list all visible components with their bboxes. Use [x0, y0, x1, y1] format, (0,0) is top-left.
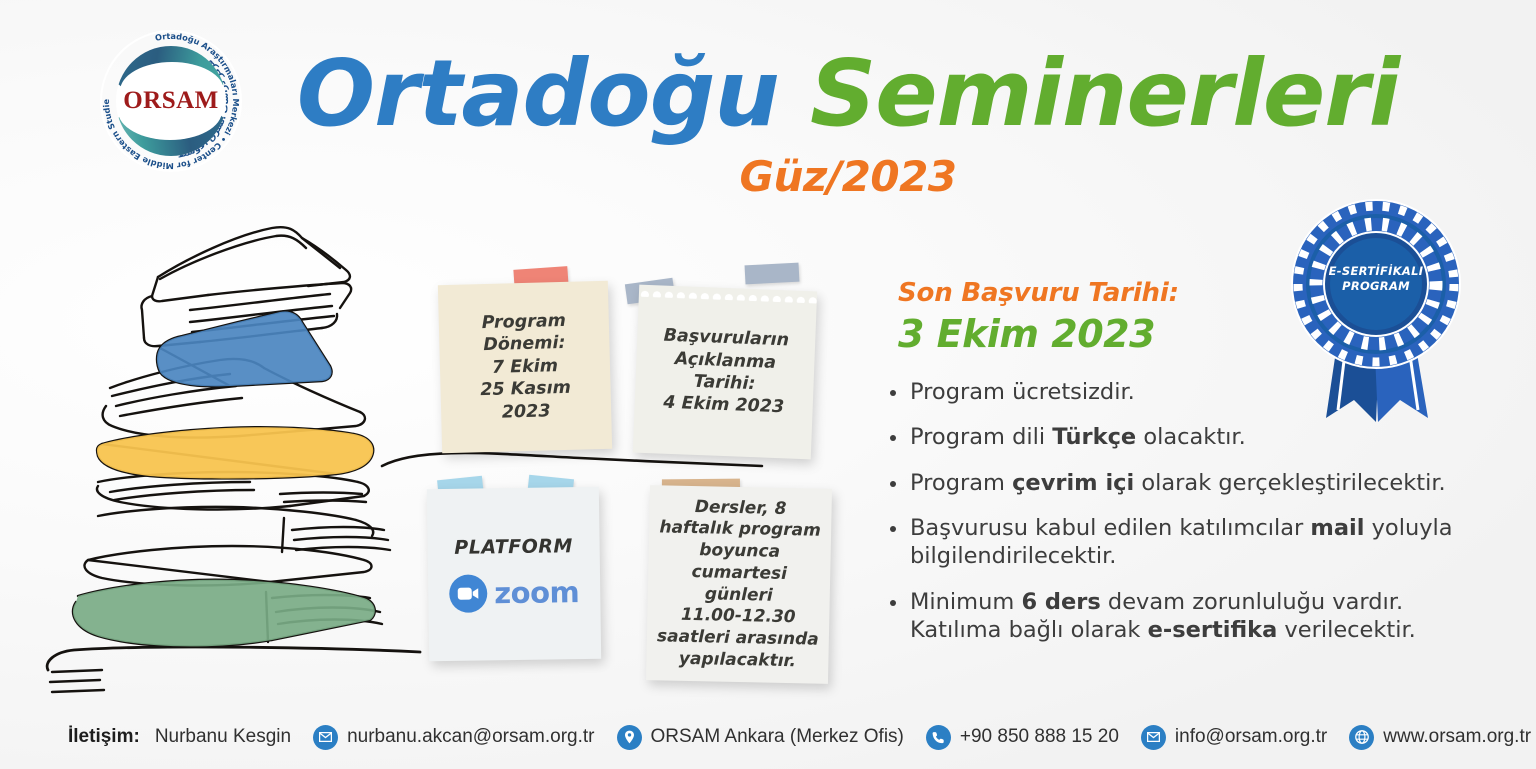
logo-wave-emblem: ORSAM [116, 46, 226, 156]
deadline-block: Son Başvuru Tarihi: 3 Ekim 2023 [898, 278, 1179, 356]
bullet-dot-icon [890, 390, 896, 396]
rosette-icon [1288, 196, 1464, 426]
footer-contact-text: www.orsam.org.tr [1383, 726, 1531, 748]
location-pin-icon [617, 725, 642, 750]
bullet-text: Program dili Türkçe olacaktır. [910, 423, 1246, 451]
contact-name: Nurbanu Kesgin [155, 726, 291, 748]
footer-contact-bar: İletişim: Nurbanu Kesgin nurbanu.akcan@o… [0, 705, 1536, 769]
bullet-text: Program ücretsizdir. [910, 378, 1135, 406]
footer-contact-item[interactable]: ORSAM Ankara (Merkez Ofis) [617, 725, 904, 750]
logo-wordmark: ORSAM [116, 87, 226, 115]
note-schedule-text: Dersler, 8 haftalık program boyunca cuma… [646, 496, 832, 674]
footer-contact-item[interactable]: nurbanu.akcan@orsam.org.tr [313, 725, 594, 750]
badge-text: E-SERTİFİKALI PROGRAM [1288, 264, 1464, 294]
zoom-wordmark: zoom [494, 575, 579, 610]
platform-label: PLATFORM [454, 535, 573, 559]
footer-contact-item[interactable]: www.orsam.org.tr [1349, 725, 1531, 750]
globe-icon [1349, 725, 1374, 750]
bullet-item: Program dili Türkçe olacaktır. [890, 423, 1490, 451]
zoom-camera-icon [449, 574, 488, 613]
note-program-period-text: Program Dönemi: 7 Ekim 25 Kasım 2023 [468, 310, 581, 425]
note-perforation-edge [639, 289, 817, 304]
orsam-logo: Ortadoğu Araştırmaları Merkezi • Center … [98, 28, 244, 174]
phone-icon [926, 725, 951, 750]
bullet-dot-icon [890, 526, 896, 532]
page-subtitle: Güz/2023 [268, 152, 1428, 201]
bullet-dot-icon [890, 481, 896, 487]
deadline-date: 3 Ekim 2023 [898, 312, 1179, 356]
zoom-logo: zoom [449, 573, 579, 613]
note-program-period: Program Dönemi: 7 Ekim 25 Kasım 2023 [438, 281, 612, 453]
title-part-2: Seminerleri [810, 40, 1399, 147]
title-block: Ortadoğu Seminerleri Güz/2023 [268, 48, 1428, 201]
bullet-item: Başvurusu kabul edilen katılımcılar mail… [890, 514, 1490, 571]
note-platform: PLATFORM zoom [427, 487, 601, 661]
deadline-label: Son Başvuru Tarihi: [898, 278, 1179, 308]
bullet-item: Minimum 6 ders devam zorunluluğu vardır.… [890, 588, 1490, 645]
badge-line-2: PROGRAM [1288, 279, 1464, 294]
footer-contact-item[interactable]: info@orsam.org.tr [1141, 725, 1327, 750]
badge-line-1: E-SERTİFİKALI [1288, 264, 1464, 279]
bullet-text: Minimum 6 ders devam zorunluluğu vardır.… [910, 588, 1490, 645]
bullet-text: Başvurusu kabul edilen katılımcılar mail… [910, 514, 1490, 571]
bullet-dot-icon [890, 435, 896, 441]
note-schedule: Dersler, 8 haftalık program boyunca cuma… [646, 485, 832, 684]
note-announcement-date: Başvuruların Açıklanma Tarihi: 4 Ekim 20… [633, 285, 817, 460]
bullet-dot-icon [890, 600, 896, 606]
mail-icon [313, 725, 338, 750]
note-announcement-date-text: Başvuruların Açıklanma Tarihi: 4 Ekim 20… [651, 324, 800, 419]
mail-icon [1141, 725, 1166, 750]
page-title: Ortadoğu Seminerleri [268, 48, 1428, 140]
footer-contact-text: info@orsam.org.tr [1175, 726, 1327, 748]
poster-canvas: Ortadoğu Araştırmaları Merkezi • Center … [0, 0, 1536, 769]
bullet-text: Program çevrim içi olarak gerçekleştiril… [910, 469, 1446, 497]
title-part-1: Ortadoğu [297, 40, 779, 147]
footer-contact-text: +90 850 888 15 20 [960, 726, 1119, 748]
footer-contact-item[interactable]: +90 850 888 15 20 [926, 725, 1119, 750]
footer-contact-text: ORSAM Ankara (Merkez Ofis) [651, 726, 904, 748]
contact-label: İletişim: [68, 726, 140, 748]
contact-person: İletişim: Nurbanu Kesgin [68, 726, 291, 748]
footer-contact-text: nurbanu.akcan@orsam.org.tr [347, 726, 594, 748]
bullet-item: Program çevrim içi olarak gerçekleştiril… [890, 469, 1490, 497]
note-tape-blue-right [745, 263, 800, 285]
e-certificate-badge: E-SERTİFİKALI PROGRAM [1288, 196, 1464, 426]
